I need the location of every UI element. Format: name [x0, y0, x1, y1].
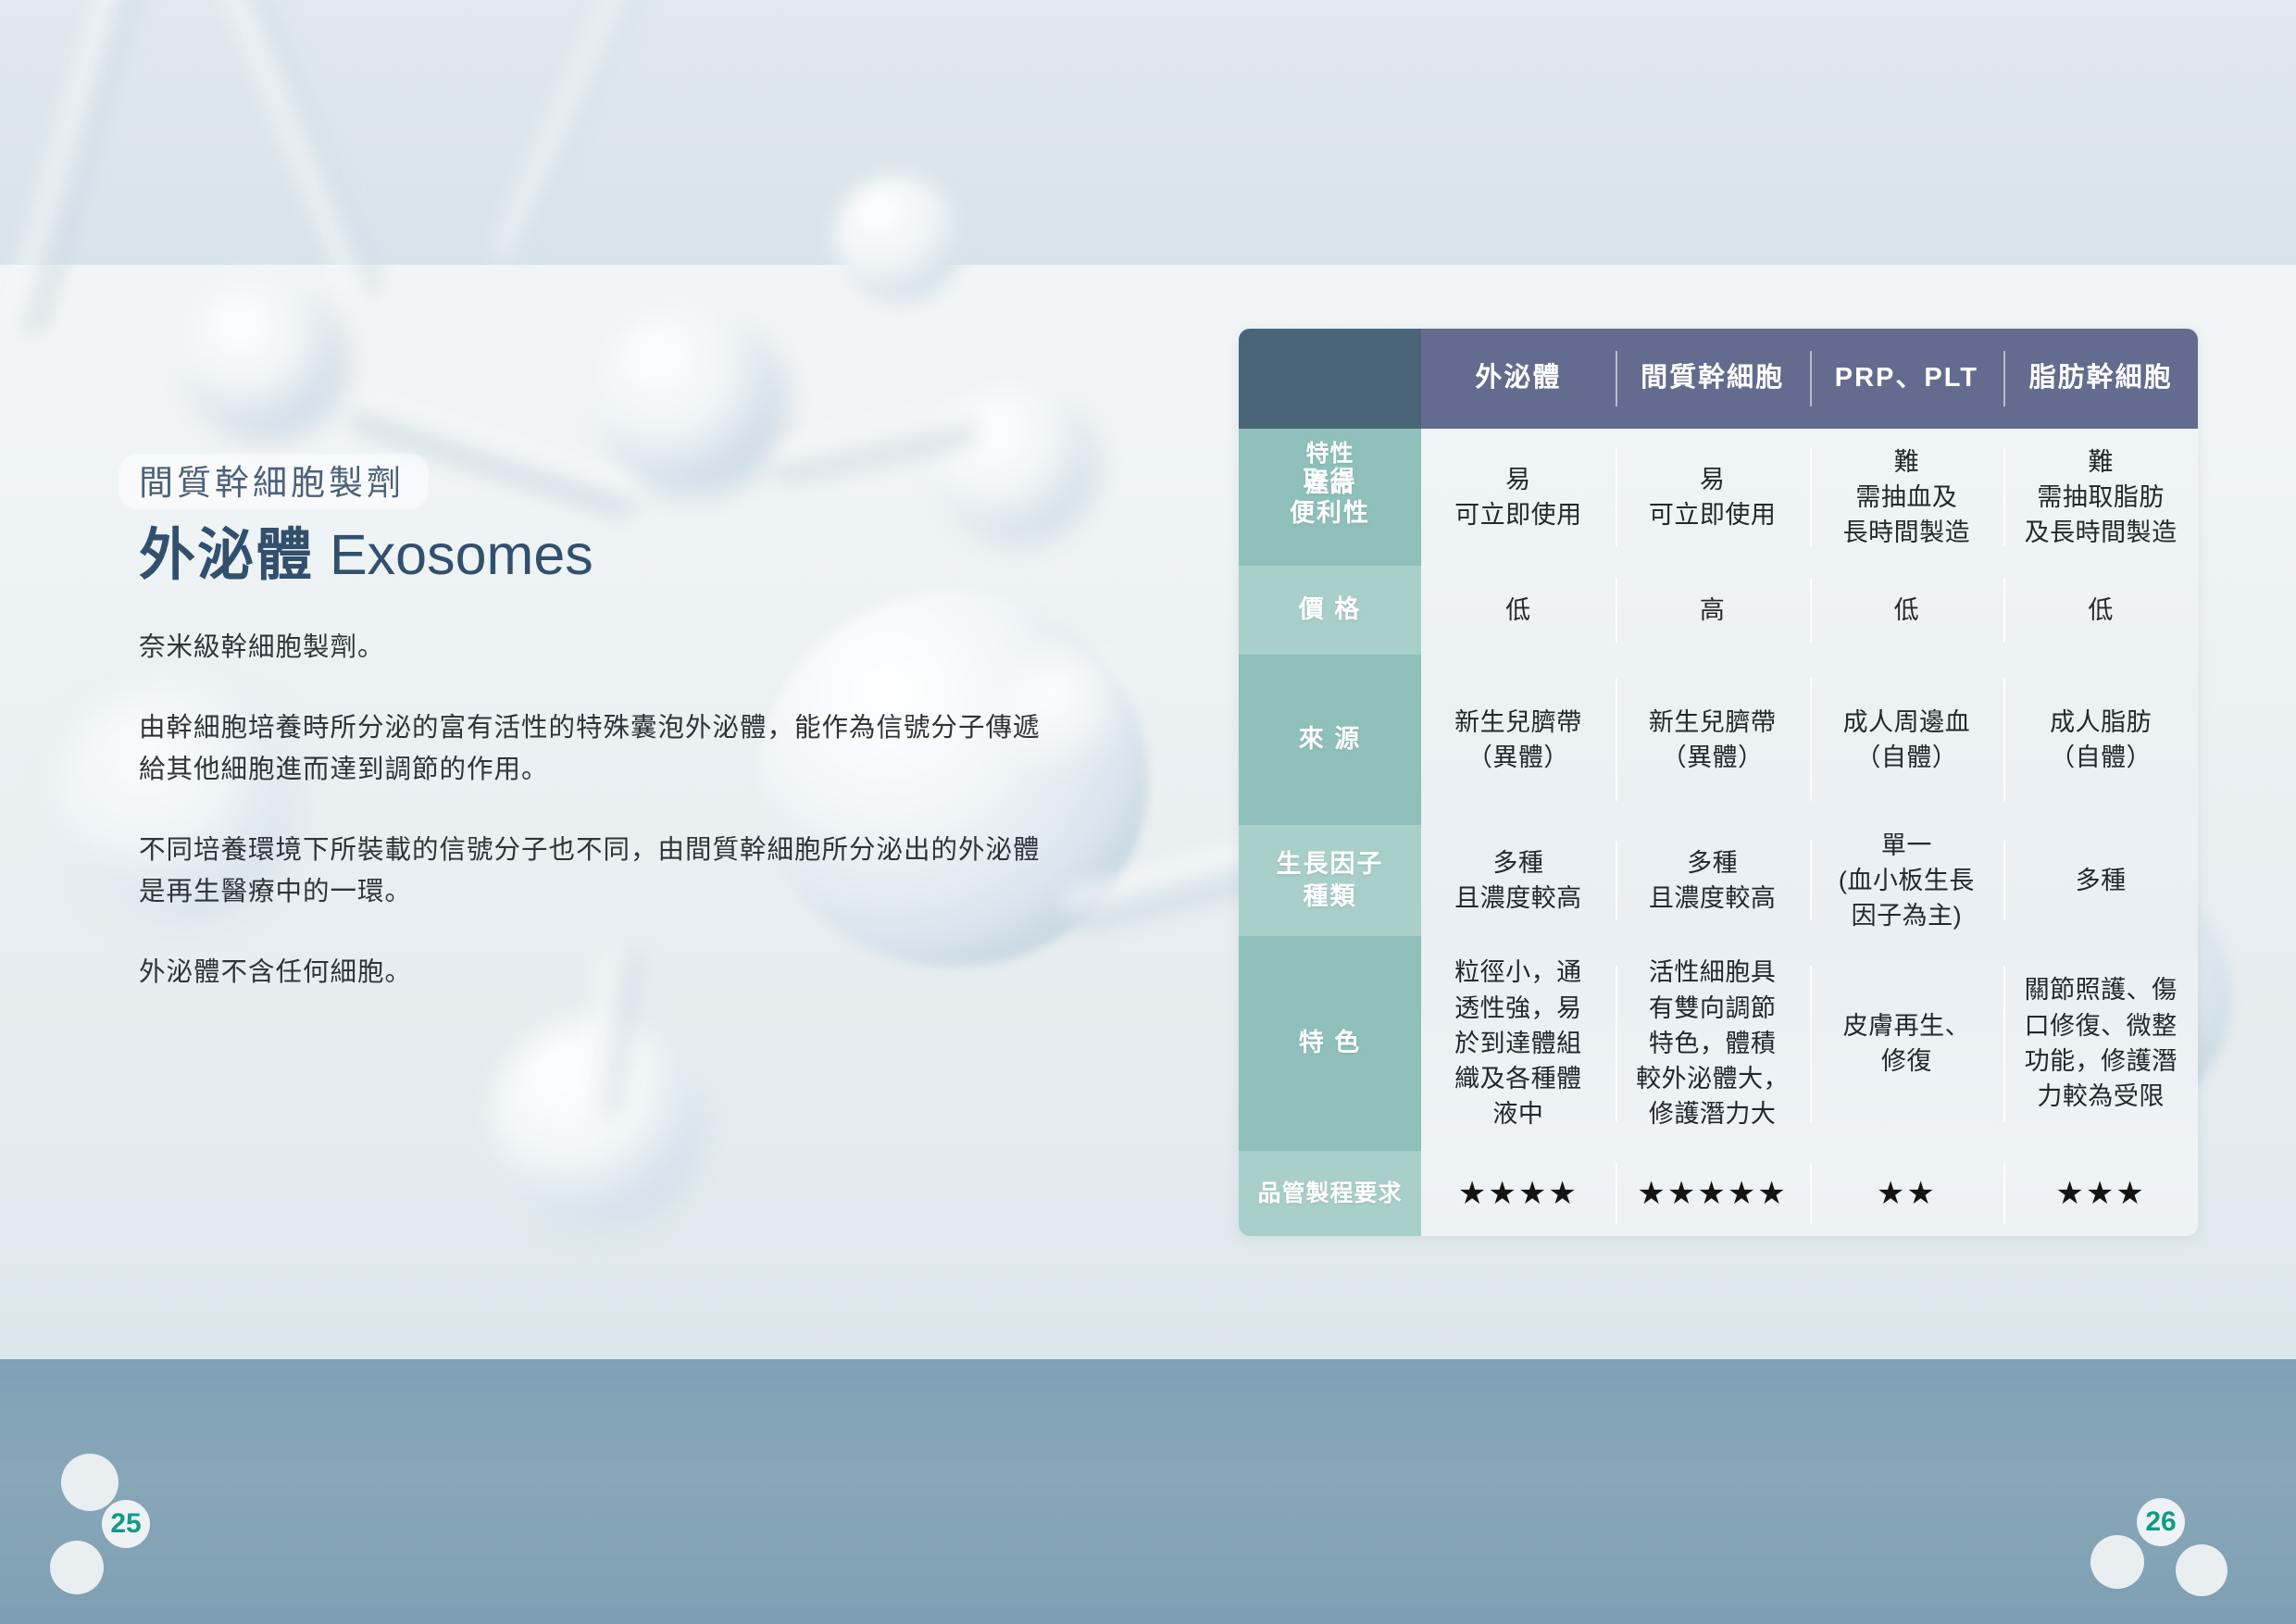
- table-row: 品管製程要求 ★★★★ ★★★★★ ★★ ★★★: [1239, 1151, 2198, 1236]
- cell-availability-prp: 難需抽血及長時間製造: [1810, 429, 2004, 566]
- table-row: 取得便利性 易可立即使用 易可立即使用 難需抽血及長時間製造 難需抽取脂肪及長時…: [1239, 429, 2198, 566]
- cell-features-exosome: 粒徑小，通透性強，易於到達體組織及各種體液中: [1421, 936, 1616, 1151]
- brochure-page: 間質幹細胞製劑 外泌體 Exosomes 奈米級幹細胞製劑。 由幹細胞培養時所分…: [0, 0, 2296, 1624]
- row-label-growth-factors: 生長因子種類: [1239, 825, 1421, 936]
- paragraph-4: 外泌體不含任何細胞。: [139, 952, 1055, 993]
- paragraph-2: 由幹細胞培養時所分泌的富有活性的特殊囊泡外泌體，能作為信號分子傳遞給其他細胞進而…: [139, 707, 1055, 791]
- paragraph-1: 奈米級幹細胞製劑。: [139, 627, 1055, 668]
- table-row: 價 格 低 高 低 低: [1239, 566, 2198, 655]
- table-header-cells: 外泌體 間質幹細胞 PRP、PLT 脂肪幹細胞: [1421, 329, 2198, 429]
- cell-features-adipose: 關節照護、傷口修復、微整功能，修護潛力較為受限: [2003, 936, 2198, 1151]
- badge-circle-decor: [61, 1454, 119, 1511]
- cell-growth-adipose: 多種: [2003, 825, 2198, 936]
- row-label-features: 特 色: [1239, 936, 1421, 1151]
- page-title: 外泌體 Exosomes: [139, 522, 1083, 587]
- page-title-en: [314, 523, 330, 586]
- cell-source-exosome: 新生兒臍帶（異體）: [1421, 655, 1616, 825]
- page-number-badge-left: 25: [44, 1444, 257, 1624]
- background-bottom-band: [0, 1359, 2296, 1624]
- page-title-en-text: Exosomes: [330, 523, 593, 586]
- row-cells-source: 新生兒臍帶（異體） 新生兒臍帶（異體） 成人周邊血（自體） 成人脂肪（自體）: [1421, 655, 2198, 825]
- cell-features-msc: 活性細胞具有雙向調節特色，體積較外泌體大，修護潛力大: [1616, 936, 1810, 1151]
- table-corner-cell: 特性 產品: [1239, 329, 1421, 429]
- row-cells-features: 粒徑小，通透性強，易於到達體組織及各種體液中 活性細胞具有雙向調節特色，體積較外…: [1421, 936, 2198, 1151]
- cell-price-msc: 高: [1616, 566, 1810, 655]
- cell-growth-prp: 單一(血小板生長因子為主): [1810, 825, 2004, 936]
- kicker-label: 間質幹細胞製劑: [139, 463, 405, 504]
- cell-source-msc: 新生兒臍帶（異體）: [1616, 655, 1810, 825]
- page-number-right: 26: [2137, 1498, 2185, 1546]
- cell-source-prp: 成人周邊血（自體）: [1810, 655, 2004, 825]
- table-row: 來 源 新生兒臍帶（異體） 新生兒臍帶（異體） 成人周邊血（自體） 成人脂肪（自…: [1239, 655, 2198, 825]
- comparison-table: 特性 產品 外泌體 間質幹細胞 PRP、PLT 脂肪幹細胞 取得便利性 易可立即…: [1239, 329, 2198, 1236]
- cell-availability-adipose: 難需抽取脂肪及長時間製造: [2003, 429, 2198, 566]
- cell-features-prp: 皮膚再生、修復: [1810, 936, 2004, 1151]
- page-title-cjk: 外泌體: [139, 523, 314, 586]
- background-top-band: [0, 0, 2296, 265]
- row-cells-availability: 易可立即使用 易可立即使用 難需抽血及長時間製造 難需抽取脂肪及長時間製造: [1421, 429, 2198, 566]
- kicker-wrap: 間質幹細胞製劑: [139, 463, 405, 504]
- badge-circle-decor: [50, 1541, 104, 1594]
- cell-qc-prp-stars: ★★: [1810, 1151, 2004, 1236]
- cell-availability-msc: 易可立即使用: [1616, 429, 1810, 566]
- column-header-exosome: 外泌體: [1421, 329, 1616, 429]
- badge-circle-decor: [2176, 1544, 2227, 1596]
- column-header-prp-plt: PRP、PLT: [1810, 329, 2004, 429]
- table-row: 特 色 粒徑小，通透性強，易於到達體組織及各種體液中 活性細胞具有雙向調節特色，…: [1239, 936, 2198, 1151]
- cell-price-exosome: 低: [1421, 566, 1616, 655]
- cell-qc-adipose-stars: ★★★: [2003, 1151, 2198, 1236]
- row-cells-price: 低 高 低 低: [1421, 566, 2198, 655]
- cell-qc-exosome-stars: ★★★★: [1421, 1151, 1616, 1236]
- badge-circle-decor: [2090, 1535, 2144, 1589]
- cell-growth-msc: 多種且濃度較高: [1616, 825, 1810, 936]
- cell-price-adipose: 低: [2003, 566, 2198, 655]
- row-label-source: 來 源: [1239, 655, 1421, 825]
- row-cells-growth-factors: 多種且濃度較高 多種且濃度較高 單一(血小板生長因子為主) 多種: [1421, 825, 2198, 936]
- cell-qc-msc-stars: ★★★★★: [1616, 1151, 1810, 1236]
- cell-growth-exosome: 多種且濃度較高: [1421, 825, 1616, 936]
- cell-availability-exosome: 易可立即使用: [1421, 429, 1616, 566]
- column-header-adipose: 脂肪幹細胞: [2003, 329, 2198, 429]
- column-header-msc: 間質幹細胞: [1616, 329, 1810, 429]
- row-label-price: 價 格: [1239, 566, 1421, 655]
- table-row: 生長因子種類 多種且濃度較高 多種且濃度較高 單一(血小板生長因子為主) 多種: [1239, 825, 2198, 936]
- row-label-qc-requirement: 品管製程要求: [1239, 1151, 1421, 1236]
- row-cells-qc-requirement: ★★★★ ★★★★★ ★★ ★★★: [1421, 1151, 2198, 1236]
- paragraph-3: 不同培養環境下所裝載的信號分子也不同，由間質幹細胞所分泌出的外泌體是再生醫療中的…: [139, 830, 1055, 913]
- table-header-row: 特性 產品 外泌體 間質幹細胞 PRP、PLT 脂肪幹細胞: [1239, 329, 2198, 429]
- cell-price-prp: 低: [1810, 566, 2004, 655]
- page-number-badge-right: 26: [2057, 1463, 2289, 1624]
- page-number-left: 25: [102, 1500, 150, 1548]
- content-column: 間質幹細胞製劑 外泌體 Exosomes 奈米級幹細胞製劑。 由幹細胞培養時所分…: [139, 463, 1083, 993]
- cell-source-adipose: 成人脂肪（自體）: [2003, 655, 2198, 825]
